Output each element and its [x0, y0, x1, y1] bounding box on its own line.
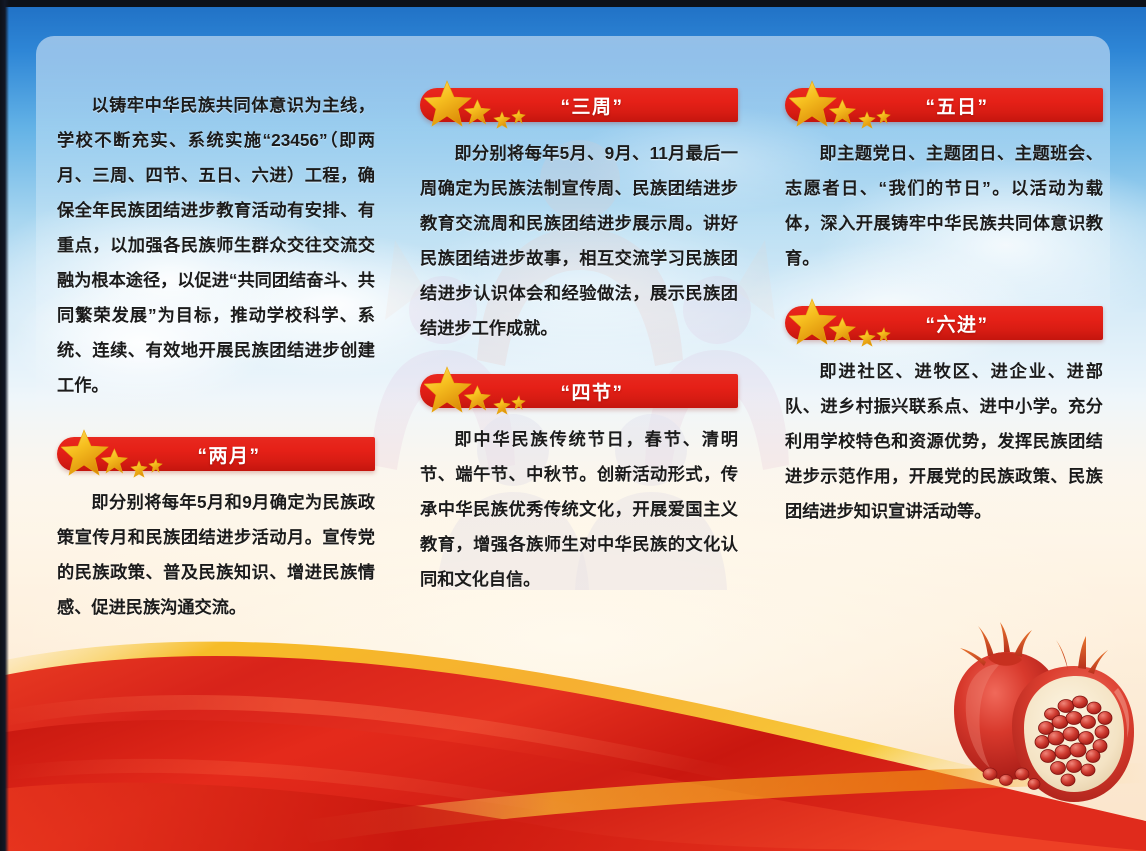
section-title: “五日” [899, 92, 988, 119]
column-left: 以铸牢中华民族共同体意识为主线，学校不断充实、系统实施“23456”（即两月、三… [57, 88, 375, 625]
section-three-weeks: “三周” 即分别将每年5月、9月、11月最后一周确定为民族法制宣传周、民族团结进… [420, 88, 738, 346]
section-body: 即主题党日、主题团日、主题班会、志愿者日、“我们的节日”。以活动为载体，深入开展… [785, 136, 1103, 276]
section-body: 即进社区、进牧区、进企业、进部队、进乡村振兴联系点、进中小学。充分利用学校特色和… [785, 354, 1103, 529]
section-banner: “两月” [57, 437, 375, 471]
section-body: 即分别将每年5月和9月确定为民族政策宣传月和民族团结进步活动月。宣传党的民族政策… [57, 485, 375, 625]
poster-canvas: 以铸牢中华民族共同体意识为主线，学校不断充实、系统实施“23456”（即两月、三… [0, 0, 1146, 851]
section-banner: “五日” [785, 88, 1103, 122]
section-six-enters: “六进” 即进社区、进牧区、进企业、进部队、进乡村振兴联系点、进中小学。充分利用… [785, 306, 1103, 529]
section-banner: “三周” [420, 88, 738, 122]
section-title: “四节” [534, 378, 623, 405]
section-body: 即分别将每年5月、9月、11月最后一周确定为民族法制宣传周、民族团结进步教育交流… [420, 136, 738, 346]
content-columns: 以铸牢中华民族共同体意识为主线，学校不断充实、系统实施“23456”（即两月、三… [0, 0, 1146, 851]
section-title: “六进” [899, 310, 988, 337]
intro-paragraph: 以铸牢中华民族共同体意识为主线，学校不断充实、系统实施“23456”（即两月、三… [57, 88, 375, 403]
section-banner: “四节” [420, 374, 738, 408]
section-title: “两月” [171, 441, 260, 468]
section-title: “三周” [534, 92, 623, 119]
section-body: 即中华民族传统节日，春节、清明节、端午节、中秋节。创新活动形式，传承中华民族优秀… [420, 422, 738, 597]
section-banner: “六进” [785, 306, 1103, 340]
section-five-days: “五日” 即主题党日、主题团日、主题班会、志愿者日、“我们的节日”。以活动为载体… [785, 88, 1103, 276]
section-four-festivals: “四节” 即中华民族传统节日，春节、清明节、端午节、中秋节。创新活动形式，传承中… [420, 374, 738, 597]
column-middle: “三周” 即分别将每年5月、9月、11月最后一周确定为民族法制宣传周、民族团结进… [420, 88, 738, 597]
column-right: “五日” 即主题党日、主题团日、主题班会、志愿者日、“我们的节日”。以活动为载体… [785, 88, 1103, 529]
section-two-months: “两月” 即分别将每年5月和9月确定为民族政策宣传月和民族团结进步活动月。宣传党… [57, 437, 375, 625]
